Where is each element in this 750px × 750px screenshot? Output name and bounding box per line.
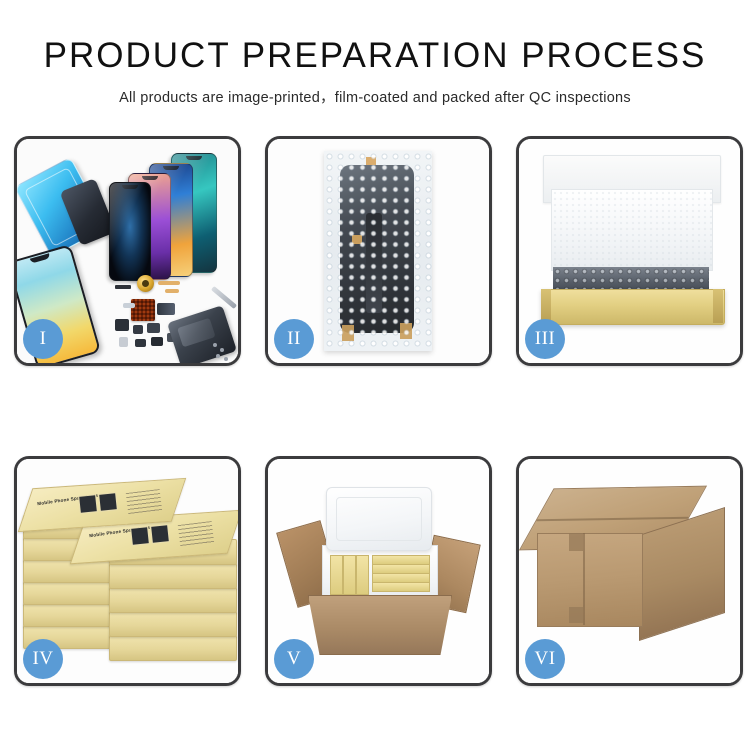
step-panel-1: I [14, 136, 241, 366]
stacked-box-front-5 [109, 635, 237, 661]
battery-connector [115, 319, 129, 331]
small-part-2 [147, 323, 160, 333]
box-end-left [541, 289, 551, 323]
carton-tape-top [569, 533, 583, 551]
page-subtitle: All products are image-printed，film-coat… [0, 86, 750, 107]
step-panel-3: III [516, 136, 743, 366]
step-badge-4: IV [23, 639, 63, 679]
tape-piece-4 [400, 323, 412, 339]
box-artwork-phone-b2 [150, 524, 170, 544]
page-title: PRODUCT PREPARATION PROCESS [0, 38, 750, 73]
tape-piece-1 [366, 157, 376, 165]
camera-module [157, 303, 175, 315]
flex-cable-2 [165, 289, 179, 293]
box-artwork-phone-b1 [130, 526, 150, 546]
carton-seam [583, 533, 585, 625]
small-part-4 [151, 337, 163, 346]
box-end-right [713, 289, 723, 323]
tape-piece-3 [342, 325, 354, 341]
stacked-box-front-4 [109, 611, 237, 637]
box-spec-text-front [178, 521, 214, 547]
small-part-1 [133, 325, 143, 334]
yellow-mailer-box-base [541, 289, 725, 325]
tweezers-tool [211, 286, 237, 309]
flex-cable-3 [115, 285, 131, 289]
step-badge-5: V [274, 639, 314, 679]
flex-cable-1 [158, 281, 180, 285]
carton-body [308, 595, 452, 655]
step-badge-1: I [23, 319, 63, 359]
phone-screen-black [109, 182, 151, 281]
spare-components-group [113, 273, 238, 363]
tape-piece-2 [352, 235, 362, 244]
box-artwork-phone-a2 [98, 492, 118, 512]
small-part-3 [135, 339, 146, 347]
speaker-component [137, 275, 154, 292]
stacked-box-front-2 [109, 563, 237, 589]
step-panel-2: II [265, 136, 492, 366]
wrapped-screen-assembly [340, 165, 414, 333]
step-badge-3: III [525, 319, 565, 359]
step-badge-2: II [274, 319, 314, 359]
box-spec-text-back [126, 489, 162, 515]
bubble-wrap-bag [324, 151, 432, 351]
process-steps-grid: I II [14, 136, 736, 686]
product-preparation-infographic: PRODUCT PREPARATION PROCESS All products… [0, 0, 750, 750]
chip-array-component [131, 299, 155, 321]
white-foam-padding [551, 189, 713, 271]
sim-tray [119, 337, 128, 347]
phone-screens-fan [109, 153, 237, 278]
step-badge-6: VI [525, 639, 565, 679]
header: PRODUCT PREPARATION PROCESS All products… [0, 0, 750, 107]
stacked-box-front-3 [109, 587, 237, 613]
styrofoam-lid [326, 487, 432, 551]
antenna-strip [123, 303, 135, 308]
carton-front-face [537, 533, 643, 627]
inner-yellow-boxes [328, 555, 430, 597]
opened-phone-chassis [167, 305, 237, 363]
box-artwork-phone-a1 [78, 494, 98, 514]
step-panel-5: V [265, 456, 492, 686]
carton-tape-bottom [569, 607, 583, 623]
step-panel-4: Mobile Phone Spare Parts Mobile Phone Sp… [14, 456, 241, 686]
step-panel-6: VI [516, 456, 743, 686]
